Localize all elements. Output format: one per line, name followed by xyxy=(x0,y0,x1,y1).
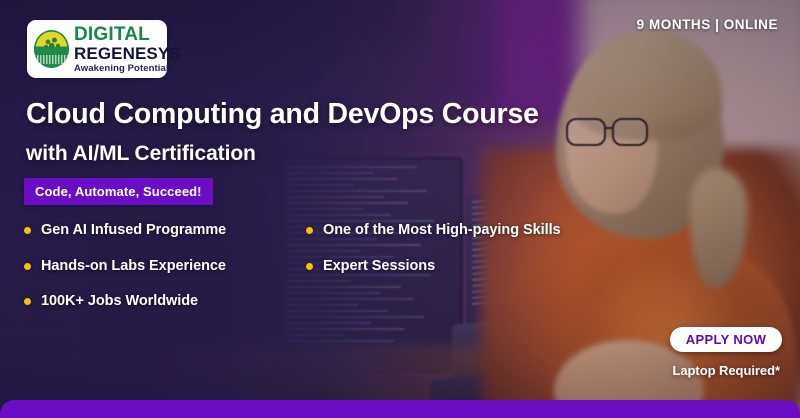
list-item-label: Gen AI Infused Programme xyxy=(41,222,226,239)
tagline-badge: Code, Automate, Succeed! xyxy=(24,178,213,205)
bullet-dot-icon xyxy=(24,227,31,234)
list-item: Expert Sessions xyxy=(306,258,561,275)
list-item: One of the Most High-paying Skills xyxy=(306,222,561,239)
regenesys-tree-emblem-icon xyxy=(34,30,69,68)
apply-now-button[interactable]: APPLY NOW xyxy=(670,327,782,352)
bullet-dot-icon xyxy=(306,227,313,234)
list-item-label: One of the Most High-paying Skills xyxy=(323,222,561,239)
duration-badge: 9 MONTHS | ONLINE xyxy=(637,17,778,32)
tree-trunk-icon xyxy=(50,45,52,53)
list-item-label: Hands-on Labs Experience xyxy=(41,258,226,275)
feature-column-right: One of the Most High-paying Skills Exper… xyxy=(306,222,561,329)
bullet-dot-icon xyxy=(306,263,313,270)
bullet-dot-icon xyxy=(24,263,31,270)
list-item-label: Expert Sessions xyxy=(323,258,435,275)
list-item: 100K+ Jobs Worldwide xyxy=(24,293,276,310)
feature-list: Gen AI Infused Programme Hands-on Labs E… xyxy=(24,222,561,329)
course-promo-banner: DIGITAL REGENESYS Awakening Potential 9 … xyxy=(0,0,800,418)
brand-name-line1: DIGITAL xyxy=(74,25,181,44)
brand-logo[interactable]: DIGITAL REGENESYS Awakening Potential xyxy=(27,20,167,78)
bullet-dot-icon xyxy=(24,298,31,305)
list-item: Gen AI Infused Programme xyxy=(24,222,276,239)
brand-name-line2: REGENESYS xyxy=(74,45,181,62)
feature-column-left: Gen AI Infused Programme Hands-on Labs E… xyxy=(24,222,276,329)
page-subtitle: with AI/ML Certification xyxy=(26,142,256,166)
brand-logo-text: DIGITAL REGENESYS Awakening Potential xyxy=(74,25,181,74)
list-item-label: 100K+ Jobs Worldwide xyxy=(41,293,198,310)
page-title: Cloud Computing and DevOps Course xyxy=(26,100,539,130)
laptop-required-note: Laptop Required* xyxy=(672,363,780,378)
banner-content: DIGITAL REGENESYS Awakening Potential 9 … xyxy=(0,0,800,418)
list-item: Hands-on Labs Experience xyxy=(24,258,276,275)
brand-slogan: Awakening Potential xyxy=(74,64,181,74)
bottom-accent-bar xyxy=(0,400,800,418)
emblem-ribbon xyxy=(34,55,69,64)
